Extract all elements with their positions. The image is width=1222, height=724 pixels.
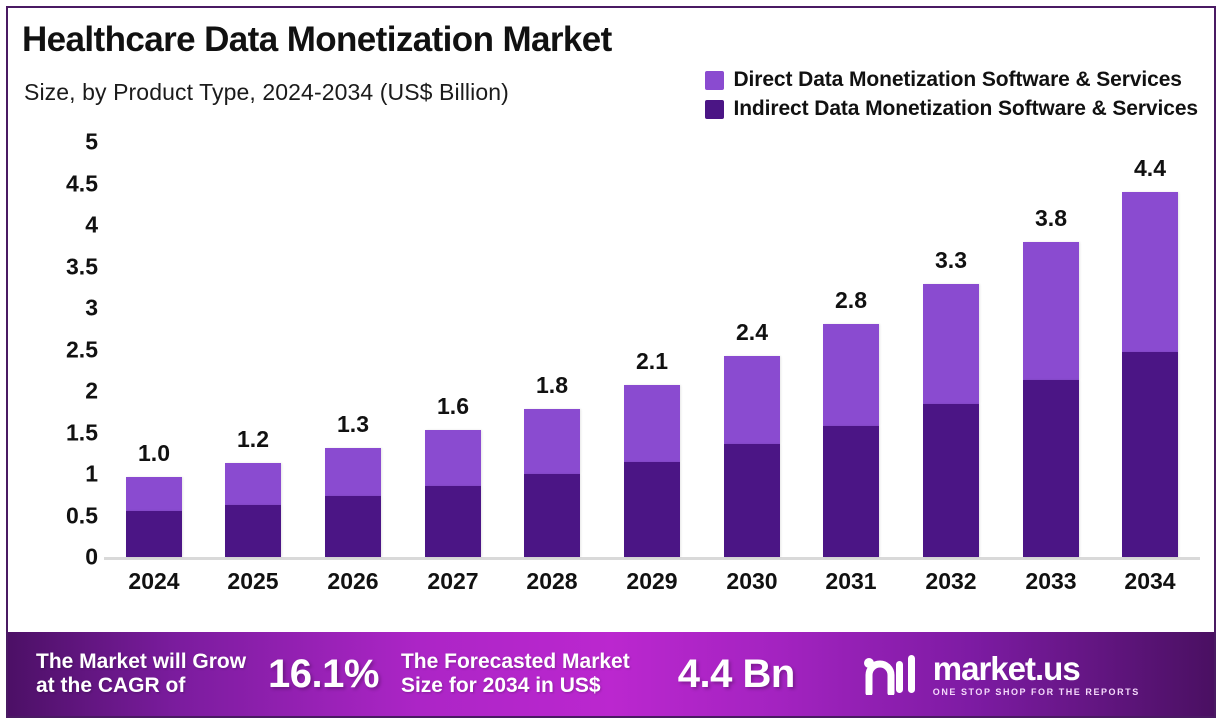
bar-2033[interactable] (1023, 242, 1079, 557)
brand-logo[interactable]: market.us ONE STOP SHOP FOR THE REPORTS (863, 652, 1140, 697)
axis-baseline (104, 557, 1200, 560)
bar-segment-direct[interactable] (823, 324, 879, 426)
bar-value-label: 2.4 (736, 319, 768, 346)
bar-segment-direct[interactable] (1023, 242, 1079, 381)
forecast-value: 4.4 Bn (678, 652, 795, 697)
y-axis-tick: 3.5 (66, 253, 98, 280)
bar-2032[interactable] (923, 284, 979, 557)
bar-segment-direct[interactable] (524, 409, 580, 474)
legend-item-direct[interactable]: Direct Data Monetization Software & Serv… (705, 68, 1181, 92)
bar-segment-indirect[interactable] (325, 496, 381, 557)
bar-2027[interactable] (425, 430, 481, 557)
bar-segment-direct[interactable] (325, 448, 381, 495)
y-axis-tick: 1.5 (66, 419, 98, 446)
bar-segment-direct[interactable] (126, 477, 182, 512)
y-axis-tick: 4 (85, 212, 98, 239)
bar-value-label: 4.4 (1134, 155, 1166, 182)
bar-value-label: 1.2 (237, 426, 269, 453)
logo-name: market.us (933, 652, 1140, 685)
forecast-caption: The Forecasted Market Size for 2034 in U… (401, 650, 630, 699)
bars-canvas: 1.01.21.31.61.82.12.42.83.33.84.4 (104, 125, 1200, 560)
page-subtitle: Size, by Product Type, 2024-2034 (US$ Bi… (24, 79, 509, 106)
bar-segment-direct[interactable] (923, 284, 979, 404)
y-axis: 00.511.522.533.544.55 (20, 125, 98, 560)
x-axis-label: 2027 (425, 568, 481, 595)
x-axis-label: 2032 (923, 568, 979, 595)
bar-segment-indirect[interactable] (624, 462, 680, 557)
bar-segment-indirect[interactable] (126, 511, 182, 557)
bar-value-label: 1.3 (337, 411, 369, 438)
bar-segment-direct[interactable] (1122, 192, 1178, 352)
chart-infographic: Healthcare Data Monetization Market Size… (0, 0, 1222, 724)
page-title: Healthcare Data Monetization Market (22, 20, 612, 60)
x-axis-label: 2031 (823, 568, 879, 595)
x-axis-label: 2029 (624, 568, 680, 595)
legend-item-indirect[interactable]: Indirect Data Monetization Software & Se… (705, 97, 1198, 121)
y-axis-tick: 0.5 (66, 502, 98, 529)
y-axis-tick: 1 (85, 461, 98, 488)
y-axis-tick: 0 (85, 544, 98, 571)
bar-segment-indirect[interactable] (524, 474, 580, 557)
x-axis-label: 2030 (724, 568, 780, 595)
bar-value-label: 2.1 (636, 348, 668, 375)
x-axis-label: 2028 (524, 568, 580, 595)
bar-segment-indirect[interactable] (724, 444, 780, 557)
bar-2026[interactable] (325, 448, 381, 557)
logo-text-block: market.us ONE STOP SHOP FOR THE REPORTS (933, 652, 1140, 697)
logo-tagline: ONE STOP SHOP FOR THE REPORTS (933, 687, 1140, 697)
bar-segment-indirect[interactable] (1122, 352, 1178, 557)
bar-2025[interactable] (225, 463, 281, 557)
bar-2030[interactable] (724, 356, 780, 557)
bar-segment-direct[interactable] (425, 430, 481, 486)
bar-segment-indirect[interactable] (823, 426, 879, 557)
bar-segment-direct[interactable] (624, 385, 680, 461)
x-axis-label: 2033 (1023, 568, 1079, 595)
bar-value-label: 1.8 (536, 372, 568, 399)
bar-value-label: 3.3 (935, 247, 967, 274)
bar-value-label: 1.0 (138, 440, 170, 467)
y-axis-tick: 2.5 (66, 336, 98, 363)
plot-area: 00.511.522.533.544.55 1.01.21.31.61.82.1… (20, 125, 1200, 620)
legend-swatch-indirect (705, 100, 724, 119)
market-us-logo-icon (863, 653, 921, 695)
y-axis-tick: 4.5 (66, 170, 98, 197)
y-axis-tick: 3 (85, 295, 98, 322)
bar-2029[interactable] (624, 385, 680, 557)
chart-legend: Direct Data Monetization Software & Serv… (705, 68, 1198, 121)
x-axis-label: 2024 (126, 568, 182, 595)
bar-segment-direct[interactable] (724, 356, 780, 444)
bar-segment-direct[interactable] (225, 463, 281, 505)
bar-2034[interactable] (1122, 192, 1178, 557)
cagr-value: 16.1% (268, 652, 379, 697)
bar-2024[interactable] (126, 477, 182, 558)
legend-label-indirect: Indirect Data Monetization Software & Se… (733, 97, 1198, 121)
bar-segment-indirect[interactable] (1023, 380, 1079, 557)
cagr-caption: The Market will Grow at the CAGR of (36, 650, 246, 699)
summary-banner: The Market will Grow at the CAGR of 16.1… (8, 632, 1214, 716)
legend-swatch-direct (705, 71, 724, 90)
bar-value-label: 2.8 (835, 287, 867, 314)
bar-segment-indirect[interactable] (225, 505, 281, 557)
bar-segment-indirect[interactable] (425, 486, 481, 557)
x-axis-label: 2026 (325, 568, 381, 595)
bar-value-label: 3.8 (1035, 205, 1067, 232)
bar-2028[interactable] (524, 409, 580, 557)
x-axis: 2024202520262027202820292030203120322033… (104, 568, 1200, 608)
bar-segment-indirect[interactable] (923, 404, 979, 557)
bar-value-label: 1.6 (437, 393, 469, 420)
y-axis-tick: 2 (85, 378, 98, 405)
x-axis-label: 2034 (1122, 568, 1178, 595)
x-axis-label: 2025 (225, 568, 281, 595)
y-axis-tick: 5 (85, 129, 98, 156)
legend-label-direct: Direct Data Monetization Software & Serv… (733, 68, 1181, 92)
bar-2031[interactable] (823, 324, 879, 557)
